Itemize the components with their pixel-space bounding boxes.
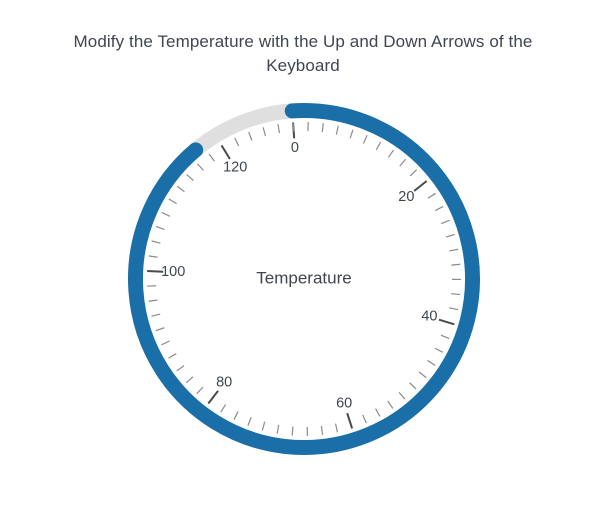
gauge-minor-tick (363, 415, 367, 423)
gauge-minor-tick (336, 424, 338, 433)
gauge-major-tick (414, 181, 427, 191)
gauge-minor-tick (152, 241, 161, 243)
gauge-minor-tick (428, 360, 436, 365)
gauge-minor-tick (451, 294, 460, 295)
gauge-minor-tick (292, 427, 293, 436)
gauge-minor-tick (186, 377, 193, 383)
gauge-minor-tick (410, 170, 416, 176)
gauge-tick-label: 80 (216, 375, 232, 391)
gauge-major-tick (439, 320, 454, 325)
gauge-tick-label: 120 (223, 159, 247, 175)
gauge-minor-tick (441, 335, 449, 338)
gauge-minor-tick (149, 256, 158, 257)
gauge-minor-tick (263, 127, 265, 136)
gauge-minor-tick (151, 314, 160, 316)
gauge-minor-tick (277, 425, 279, 434)
gauge-minor-tick (209, 154, 214, 161)
gauge-major-tick (222, 145, 230, 159)
gauge-widget[interactable]: Modify the Temperature with the Up and D… (0, 0, 606, 521)
gauge-major-tick (208, 391, 218, 404)
gauge-minor-tick (363, 135, 367, 143)
gauge-minor-tick (156, 328, 164, 331)
gauge-minor-tick (350, 130, 353, 139)
gauge-minor-tick (234, 411, 238, 419)
gauge-minor-tick (221, 405, 226, 413)
gauge-minor-tick (162, 212, 170, 216)
gauge-minor-tick (376, 409, 380, 417)
gauge-minor-tick (410, 383, 416, 389)
gauge-minor-tick (399, 392, 405, 399)
gauge-minor-tick (197, 164, 203, 171)
gauge-minor-tick (235, 138, 239, 146)
gauge-tick-label: 20 (398, 189, 414, 205)
gauge-minor-tick (187, 175, 194, 181)
gauge-minor-tick (449, 308, 458, 310)
gauge-minor-tick (322, 123, 323, 132)
gauge-minor-tick (168, 354, 176, 359)
gauge-minor-tick (446, 235, 455, 238)
gauge-minor-tick (388, 401, 393, 408)
gauge-minor-tick (435, 206, 443, 210)
gauge-minor-tick (197, 387, 203, 394)
gauge-minor-tick (449, 249, 458, 251)
gauge-minor-tick (428, 193, 436, 198)
gauge-minor-tick (169, 199, 177, 204)
gauge-minor-tick (336, 126, 338, 135)
gauge-minor-tick (262, 422, 264, 431)
gauge-minor-tick (451, 264, 460, 265)
temperature-gauge[interactable]: 020406080100120 Temperature (0, 0, 606, 521)
gauge-tick-label: 60 (336, 396, 352, 412)
gauge-minor-tick (376, 142, 380, 150)
gauge-minor-tick (149, 300, 158, 301)
gauge-minor-tick (177, 366, 184, 371)
gauge-empty-track (196, 111, 293, 150)
gauge-minor-tick (248, 417, 251, 425)
gauge-tick-label: 100 (161, 264, 185, 280)
gauge-minor-tick (249, 132, 252, 140)
gauge-minor-tick (419, 372, 426, 378)
gauge-minor-tick (278, 124, 279, 133)
gauge-minor-tick (161, 341, 169, 345)
gauge-minor-tick (177, 186, 184, 191)
gauge-tick-label: 0 (291, 140, 299, 156)
gauge-minor-tick (293, 122, 294, 131)
gauge-major-tick (347, 413, 352, 428)
gauge-tick-label: 40 (421, 309, 437, 325)
gauge-minor-tick (388, 150, 393, 157)
gauge-minor-tick (400, 159, 406, 166)
gauge-track-group (196, 111, 293, 150)
gauge-minor-tick (441, 220, 449, 223)
gauge-center-label: Temperature (256, 268, 351, 287)
gauge-minor-tick (321, 426, 322, 435)
gauge-minor-tick (156, 226, 164, 229)
gauge-minor-tick (435, 348, 443, 352)
